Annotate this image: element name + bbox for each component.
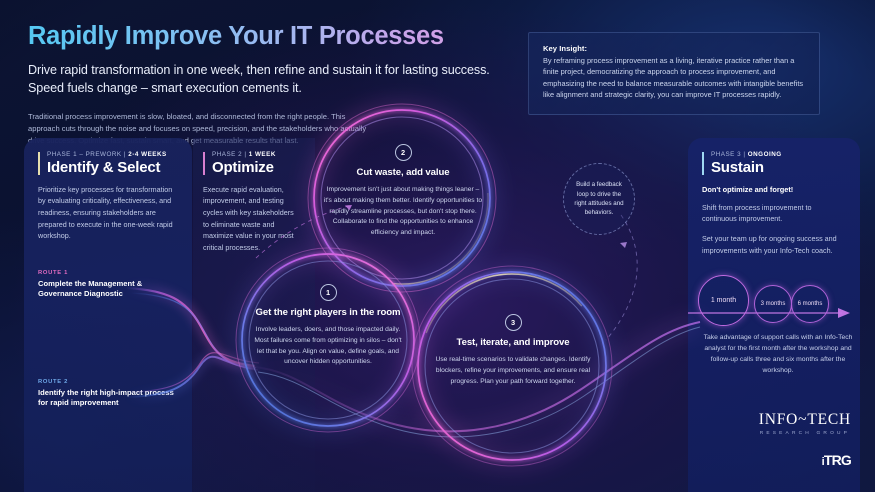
header-block: Rapidly Improve Your IT Processes Drive …	[28, 22, 508, 147]
node-1-title: Get the right players in the room	[252, 307, 404, 319]
key-insight-body: By reframing process improvement as a li…	[543, 55, 805, 101]
node-3-test-iterate: 3 Test, iterate, and improve Use real-ti…	[430, 314, 596, 387]
node-1-body: Involve leaders, doers, and those impact…	[252, 325, 404, 368]
milestone-1-label: 1 month	[711, 297, 736, 304]
milestone-3-label: 6 months	[798, 301, 823, 307]
phase-1-panel: PHASE 1 – PREWORK | 2-4 WEEKS Identify &…	[24, 138, 192, 492]
route-2-kicker: ROUTE 2	[38, 379, 184, 385]
milestone-6-months: 6 months	[791, 285, 829, 323]
page-subtitle: Drive rapid transformation in one week, …	[28, 61, 508, 98]
node-2-cut-waste: 2 Cut waste, add value Improvement isn't…	[322, 144, 484, 239]
phase-2-kicker: PHASE 2 | 1 WEEK	[212, 151, 301, 158]
node-3-body: Use real-time scenarios to validate chan…	[430, 355, 596, 387]
itrg-badge: iTRG	[822, 452, 851, 468]
node-1-badge: 1	[320, 284, 337, 301]
page-title: Rapidly Improve Your IT Processes	[28, 22, 508, 50]
phase-1-kicker: PHASE 1 – PREWORK | 2-4 WEEKS	[47, 151, 175, 158]
phase-1-title: Identify & Select	[47, 160, 175, 177]
phase-1-body: Prioritize key processes for transformat…	[38, 184, 175, 242]
phase-2-body: Execute rapid evaluation, improvement, a…	[203, 184, 301, 254]
logo-wordmark: INFO~TECH	[759, 411, 851, 429]
milestone-2-label: 3 months	[761, 301, 786, 307]
milestone-1-month: 1 month	[698, 275, 749, 326]
node-1-right-players: 1 Get the right players in the room Invo…	[252, 284, 404, 368]
phase-3-lead: Don't optimize and forget!	[702, 185, 844, 194]
phase-3-para-2: Set your team up for ongoing success and…	[702, 233, 844, 256]
phase-2-header: PHASE 2 | 1 WEEK Optimize	[203, 151, 301, 177]
phase-3-para-1: Shift from process improvement to contin…	[702, 202, 844, 225]
phase-1-header: PHASE 1 – PREWORK | 2-4 WEEKS Identify &…	[38, 151, 175, 177]
node-3-title: Test, iterate, and improve	[430, 337, 596, 349]
route-1-kicker: ROUTE 1	[38, 270, 184, 276]
feedback-loop-text: Build a feedback loop to drive the right…	[564, 180, 634, 218]
milestone-3-months: 3 months	[754, 285, 792, 323]
logo-tagline: RESEARCH GROUP	[759, 431, 851, 436]
route-2-text: Identify the right high-impact process f…	[38, 388, 184, 409]
key-insight-label: Key Insight:	[543, 44, 805, 53]
phase-3-kicker: PHASE 3 | ONGOING	[711, 151, 844, 158]
route-1: ROUTE 1 Complete the Management & Govern…	[38, 270, 184, 300]
phase-3-header: PHASE 3 | ONGOING Sustain	[702, 151, 844, 177]
node-3-badge: 3	[505, 314, 522, 331]
phase-2-title: Optimize	[212, 160, 301, 177]
node-2-badge: 2	[395, 144, 412, 161]
route-2: ROUTE 2 Identify the right high-impact p…	[38, 379, 184, 409]
info-tech-logo: INFO~TECH RESEARCH GROUP	[759, 411, 851, 436]
infographic-root: Rapidly Improve Your IT Processes Drive …	[0, 0, 875, 492]
route-1-text: Complete the Management & Governance Dia…	[38, 279, 184, 300]
itrg-badge-rest: TRG	[824, 452, 851, 468]
phase-3-title: Sustain	[711, 160, 844, 177]
milestone-note: Take advantage of support calls with an …	[700, 332, 856, 376]
node-2-title: Cut waste, add value	[322, 167, 484, 179]
key-insight-box: Key Insight: By reframing process improv…	[528, 32, 820, 115]
node-2-body: Improvement isn't just about making thin…	[322, 185, 484, 239]
feedback-loop-bubble: Build a feedback loop to drive the right…	[563, 163, 635, 235]
